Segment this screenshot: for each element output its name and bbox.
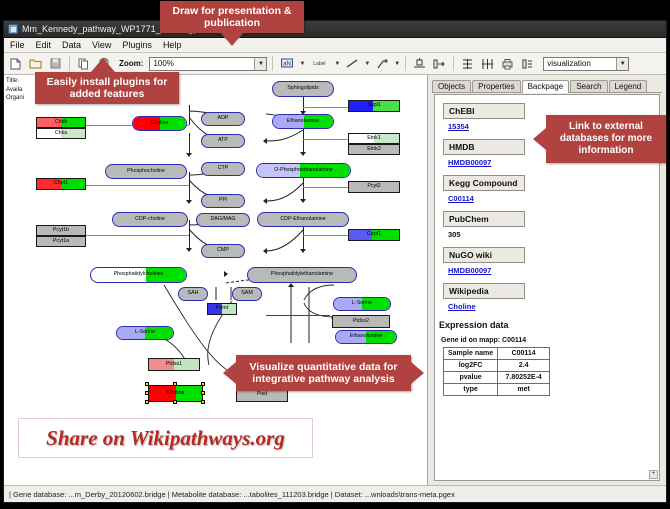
- db-link-wikipedia[interactable]: Choline: [448, 302, 659, 311]
- node-chpt1[interactable]: Chpt1: [36, 178, 86, 190]
- zoom-label: Zoom:: [119, 59, 143, 68]
- callout-plugins-pointer: [91, 58, 115, 72]
- arrow-ptdetn-to-ptdchol: [224, 271, 228, 277]
- node-phosphatidylethanolamine[interactable]: Phosphatidylethanolamine: [247, 267, 357, 283]
- menu-edit[interactable]: Edit: [34, 40, 54, 50]
- node-label: PPi: [219, 198, 227, 203]
- tab-properties[interactable]: Properties: [472, 80, 520, 92]
- cell-key: Sample name: [444, 348, 498, 360]
- node-label: Ethanolamine: [350, 334, 382, 339]
- node-label: Pisd: [257, 392, 267, 397]
- stack-icon[interactable]: [459, 55, 476, 72]
- node-label: Etnk1: [367, 136, 381, 141]
- node-sgpl1[interactable]: Sgpl1: [348, 100, 400, 112]
- db-title-wikipedia: Wikipedia: [443, 283, 525, 299]
- arrowhead-ppi-r: [263, 198, 267, 204]
- callout-visualize-pointer-left: [223, 362, 236, 384]
- gline-cept1: [303, 235, 348, 236]
- db-title-pubchem: PubChem: [443, 211, 525, 227]
- cell-key: type: [444, 384, 498, 396]
- callout-share: Share on Wikipathways.org: [18, 418, 313, 458]
- selection-handle-s[interactable]: [173, 400, 177, 404]
- menu-help[interactable]: Help: [161, 40, 184, 50]
- node-label: SAM: [241, 291, 252, 296]
- order-icon[interactable]: [519, 55, 536, 72]
- db-title-nugo: NuGO wiki: [443, 247, 525, 263]
- node-label: Phosphatidylcholines: [114, 272, 164, 277]
- node-adp[interactable]: ADP: [201, 112, 245, 126]
- callout-draw-text: Draw for presentation & publication: [165, 5, 299, 29]
- node-label: Ptdss2: [353, 319, 369, 324]
- node-cdp-choline[interactable]: CDP-choline: [112, 212, 188, 227]
- expression-data-heading: Expression data: [439, 320, 659, 330]
- distribute-icon[interactable]: [479, 55, 496, 72]
- node-chka[interactable]: Chka: [36, 128, 86, 139]
- node-etnk1[interactable]: Etnk1: [348, 133, 400, 144]
- copy-icon[interactable]: [75, 55, 92, 72]
- table-row: Sample name C00114: [444, 348, 550, 360]
- gline-etnk: [303, 139, 348, 140]
- node-ctp[interactable]: CTP: [201, 162, 245, 176]
- node-label: Ptdss1: [166, 362, 182, 367]
- node-label: L-Serine: [135, 330, 155, 335]
- node-pcyt1a[interactable]: Pcyt1a: [36, 236, 86, 247]
- node-label: Etnk2: [367, 147, 381, 152]
- node-label: Choline: [167, 391, 185, 396]
- node-label: Pcyt1a: [53, 239, 69, 244]
- node-label: CMP: [217, 248, 229, 253]
- node-label: Cept1: [367, 232, 381, 237]
- gline-pisd: [266, 315, 308, 316]
- callout-visualize-pointer-right: [411, 362, 424, 384]
- node-ptdss1[interactable]: Ptdss1: [148, 358, 200, 371]
- toolbar-separator-1: [69, 56, 70, 71]
- tab-objects[interactable]: Objects: [432, 80, 471, 92]
- chevron-down-icon-2[interactable]: ▼: [616, 58, 628, 70]
- cell-key: pvalue: [444, 372, 498, 384]
- node-sphingolipids[interactable]: Sphingolipids: [272, 81, 334, 97]
- gline-sgpl1: [303, 107, 348, 108]
- callout-links-text: Link to external databases for more info…: [550, 121, 662, 157]
- toolbar-separator-2: [272, 56, 273, 71]
- tab-legend[interactable]: Legend: [609, 80, 648, 92]
- svg-text:aN: aN: [283, 61, 291, 67]
- node-cdp-ethanolamine[interactable]: CDP-Ethanolamine: [257, 212, 349, 227]
- gene-id-label: Gene id on mapp: C00114: [441, 337, 659, 344]
- node-pemt[interactable]: Pemt: [207, 303, 237, 315]
- db-link-nugo[interactable]: HMDB00097: [448, 266, 659, 275]
- callout-visualize: Visualize quantitative data for integrat…: [236, 355, 411, 391]
- callout-visualize-text: Visualize quantitative data for integrat…: [240, 361, 407, 385]
- db-link-kegg[interactable]: C00114: [448, 194, 659, 203]
- screenshot-root: Mm_Kennedy_pathway_WP1771_45176.gpml Fil…: [0, 0, 670, 509]
- callout-plugins: Easily install plugins for added feature…: [35, 72, 179, 104]
- new-icon[interactable]: [7, 55, 24, 72]
- menu-view[interactable]: View: [90, 40, 113, 50]
- db-block-kegg: Kegg Compound C00114: [443, 173, 659, 203]
- selection-handle-e[interactable]: [201, 391, 205, 395]
- selection-handle-se[interactable]: [201, 400, 205, 404]
- visualization-value: visualization: [547, 59, 591, 68]
- node-label: DAG/MAG: [210, 217, 235, 222]
- line-chevron-icon[interactable]: ▼: [364, 61, 370, 67]
- gline-pcyt2: [303, 187, 348, 188]
- node-label: Ethanolamine: [287, 119, 319, 124]
- node-label: Phosphocholine: [127, 169, 165, 174]
- chevron-down-icon[interactable]: ▼: [254, 58, 266, 70]
- label-chevron-icon[interactable]: ▼: [334, 61, 340, 67]
- callout-links-pointer: [533, 128, 546, 150]
- tab-backpage[interactable]: Backpage: [522, 80, 570, 93]
- align-icon[interactable]: [411, 55, 428, 72]
- node-ptdss2[interactable]: Ptdss2: [332, 315, 390, 328]
- interaction-chevron-icon[interactable]: ▼: [394, 61, 400, 67]
- node-sah[interactable]: SAH: [178, 287, 208, 301]
- table-row: pvalue 7.80252E-4: [444, 372, 550, 384]
- cell-key: log2FC: [444, 360, 498, 372]
- selection-handle-nw[interactable]: [145, 382, 149, 386]
- node-etnk2[interactable]: Etnk2: [348, 144, 400, 155]
- db-block-wikipedia: Wikipedia Choline: [443, 281, 659, 311]
- statusbar: | Gene database: ...m_Derby_20120602.bri…: [4, 485, 666, 502]
- node-label: Pcyt2: [367, 184, 380, 189]
- line-icon[interactable]: [343, 55, 360, 72]
- node-label: Sphingolipids: [287, 86, 319, 91]
- node-ethanolamine-right[interactable]: Ethanolamine: [335, 330, 397, 344]
- node-ppi[interactable]: PPi: [201, 194, 245, 208]
- callout-share-text: Share on Wikipathways.org: [46, 426, 285, 451]
- cell-value: 2.4: [498, 360, 550, 372]
- callout-draw-pointer: [221, 33, 243, 46]
- interaction-icon[interactable]: [373, 55, 390, 72]
- node-pcyt2[interactable]: Pcyt2: [348, 181, 400, 193]
- gline-pcyt1: [84, 235, 189, 236]
- label-icon[interactable]: Label: [308, 55, 330, 72]
- node-label: Choline: [151, 121, 169, 126]
- datanode-icon[interactable]: aN: [278, 55, 295, 72]
- menu-plugins[interactable]: Plugins: [120, 40, 154, 50]
- menubar: File Edit Data View Plugins Help: [4, 38, 666, 53]
- node-cmp[interactable]: CMP: [201, 244, 245, 258]
- tab-search[interactable]: Search: [570, 80, 607, 92]
- menu-file[interactable]: File: [8, 40, 27, 50]
- arrowhead-atp-r: [263, 138, 267, 144]
- node-atp[interactable]: ATP: [201, 134, 245, 148]
- sidepanel-tabs: Objects Properties Backpage Search Legen…: [432, 78, 662, 93]
- arrow-pisd-up: [288, 283, 294, 287]
- node-chkb[interactable]: Chkb: [36, 117, 86, 128]
- save-icon[interactable]: [47, 55, 64, 72]
- gline-ptdss2: [308, 315, 330, 316]
- callout-draw: Draw for presentation & publication: [160, 1, 304, 33]
- node-pcyt1b[interactable]: Pcyt1b: [36, 225, 86, 236]
- node-o-phosphoethanolamine[interactable]: O-Phosphoethanolamine: [256, 163, 351, 178]
- datanode-chevron-icon[interactable]: ▼: [299, 61, 305, 67]
- node-l-serine-left[interactable]: L-Serine: [116, 326, 174, 340]
- node-label: Pemt: [216, 306, 228, 311]
- visualization-combo[interactable]: visualization ▼: [543, 57, 629, 71]
- expression-table: Sample name C00114 log2FC 2.4 pvalue 7.8…: [443, 347, 550, 396]
- node-label: Sgpl1: [367, 103, 381, 108]
- node-l-serine-right[interactable]: L-Serine: [333, 297, 391, 311]
- db-title-hmdb: HMDB: [443, 139, 525, 155]
- node-dag-mag[interactable]: DAG/MAG: [196, 213, 250, 227]
- node-sam[interactable]: SAM: [232, 287, 262, 301]
- db-value-pubchem: 305: [448, 230, 659, 239]
- node-label: CDP-choline: [135, 217, 165, 222]
- node-label: Chkb: [55, 120, 67, 125]
- node-label: ADP: [218, 116, 229, 121]
- node-label: Phosphatidylethanolamine: [271, 272, 333, 277]
- scroll-corner[interactable]: +: [649, 470, 658, 479]
- db-title-kegg: Kegg Compound: [443, 175, 525, 191]
- db-block-pubchem: PubChem 305: [443, 209, 659, 239]
- node-label: Pcyt1b: [53, 228, 69, 233]
- cell-value: C00114: [498, 348, 550, 360]
- node-label: O-Phosphoethanolamine: [274, 168, 333, 173]
- selection-handle-ne[interactable]: [201, 382, 205, 386]
- selection-handle-w[interactable]: [145, 391, 149, 395]
- selection-handle-n[interactable]: [173, 382, 177, 386]
- db-block-nugo: NuGO wiki HMDB00097: [443, 245, 659, 275]
- toolbar-separator-3: [405, 56, 406, 71]
- node-label: CTP: [218, 166, 229, 171]
- db-title-chebi: ChEBI: [443, 103, 525, 119]
- node-choline-top[interactable]: Choline: [132, 116, 187, 131]
- group-icon[interactable]: [431, 55, 448, 72]
- arrowhead-cmp-r: [263, 248, 267, 254]
- statusbar-text: | Gene database: ...m_Derby_20120602.bri…: [9, 490, 455, 499]
- app-icon: [8, 24, 18, 34]
- node-label: L-Serine: [352, 301, 372, 306]
- table-row: type met: [444, 384, 550, 396]
- callout-links: Link to external databases for more info…: [546, 115, 666, 163]
- node-phosphatidylcholines[interactable]: Phosphatidylcholines: [90, 267, 187, 283]
- node-label: CDP-Ethanolamine: [280, 217, 325, 222]
- node-label: Chpt1: [54, 181, 68, 186]
- zoom-combo[interactable]: 100% ▼: [149, 57, 267, 71]
- toolbar-separator-4: [453, 56, 454, 71]
- callout-plugins-text: Easily install plugins for added feature…: [40, 76, 174, 100]
- cell-value: met: [498, 384, 550, 396]
- node-label: SAH: [188, 291, 199, 296]
- menu-data[interactable]: Data: [60, 40, 83, 50]
- node-label: Chka: [55, 131, 67, 136]
- cell-value: 7.80252E-4: [498, 372, 550, 384]
- node-phosphocholine[interactable]: Phosphocholine: [105, 164, 187, 179]
- node-cept1[interactable]: Cept1: [348, 229, 400, 241]
- node-ethanolamine-top[interactable]: Ethanolamine: [272, 114, 334, 129]
- zoom-value: 100%: [153, 59, 173, 68]
- selection-handle-sw[interactable]: [145, 400, 149, 404]
- print-icon[interactable]: [499, 55, 516, 72]
- table-row: log2FC 2.4: [444, 360, 550, 372]
- gline-chpt1: [84, 185, 189, 186]
- node-label: ATP: [218, 138, 228, 143]
- window-titlebar: Mm_Kennedy_pathway_WP1771_45176.gpml: [4, 21, 666, 38]
- open-folder-icon[interactable]: [27, 55, 44, 72]
